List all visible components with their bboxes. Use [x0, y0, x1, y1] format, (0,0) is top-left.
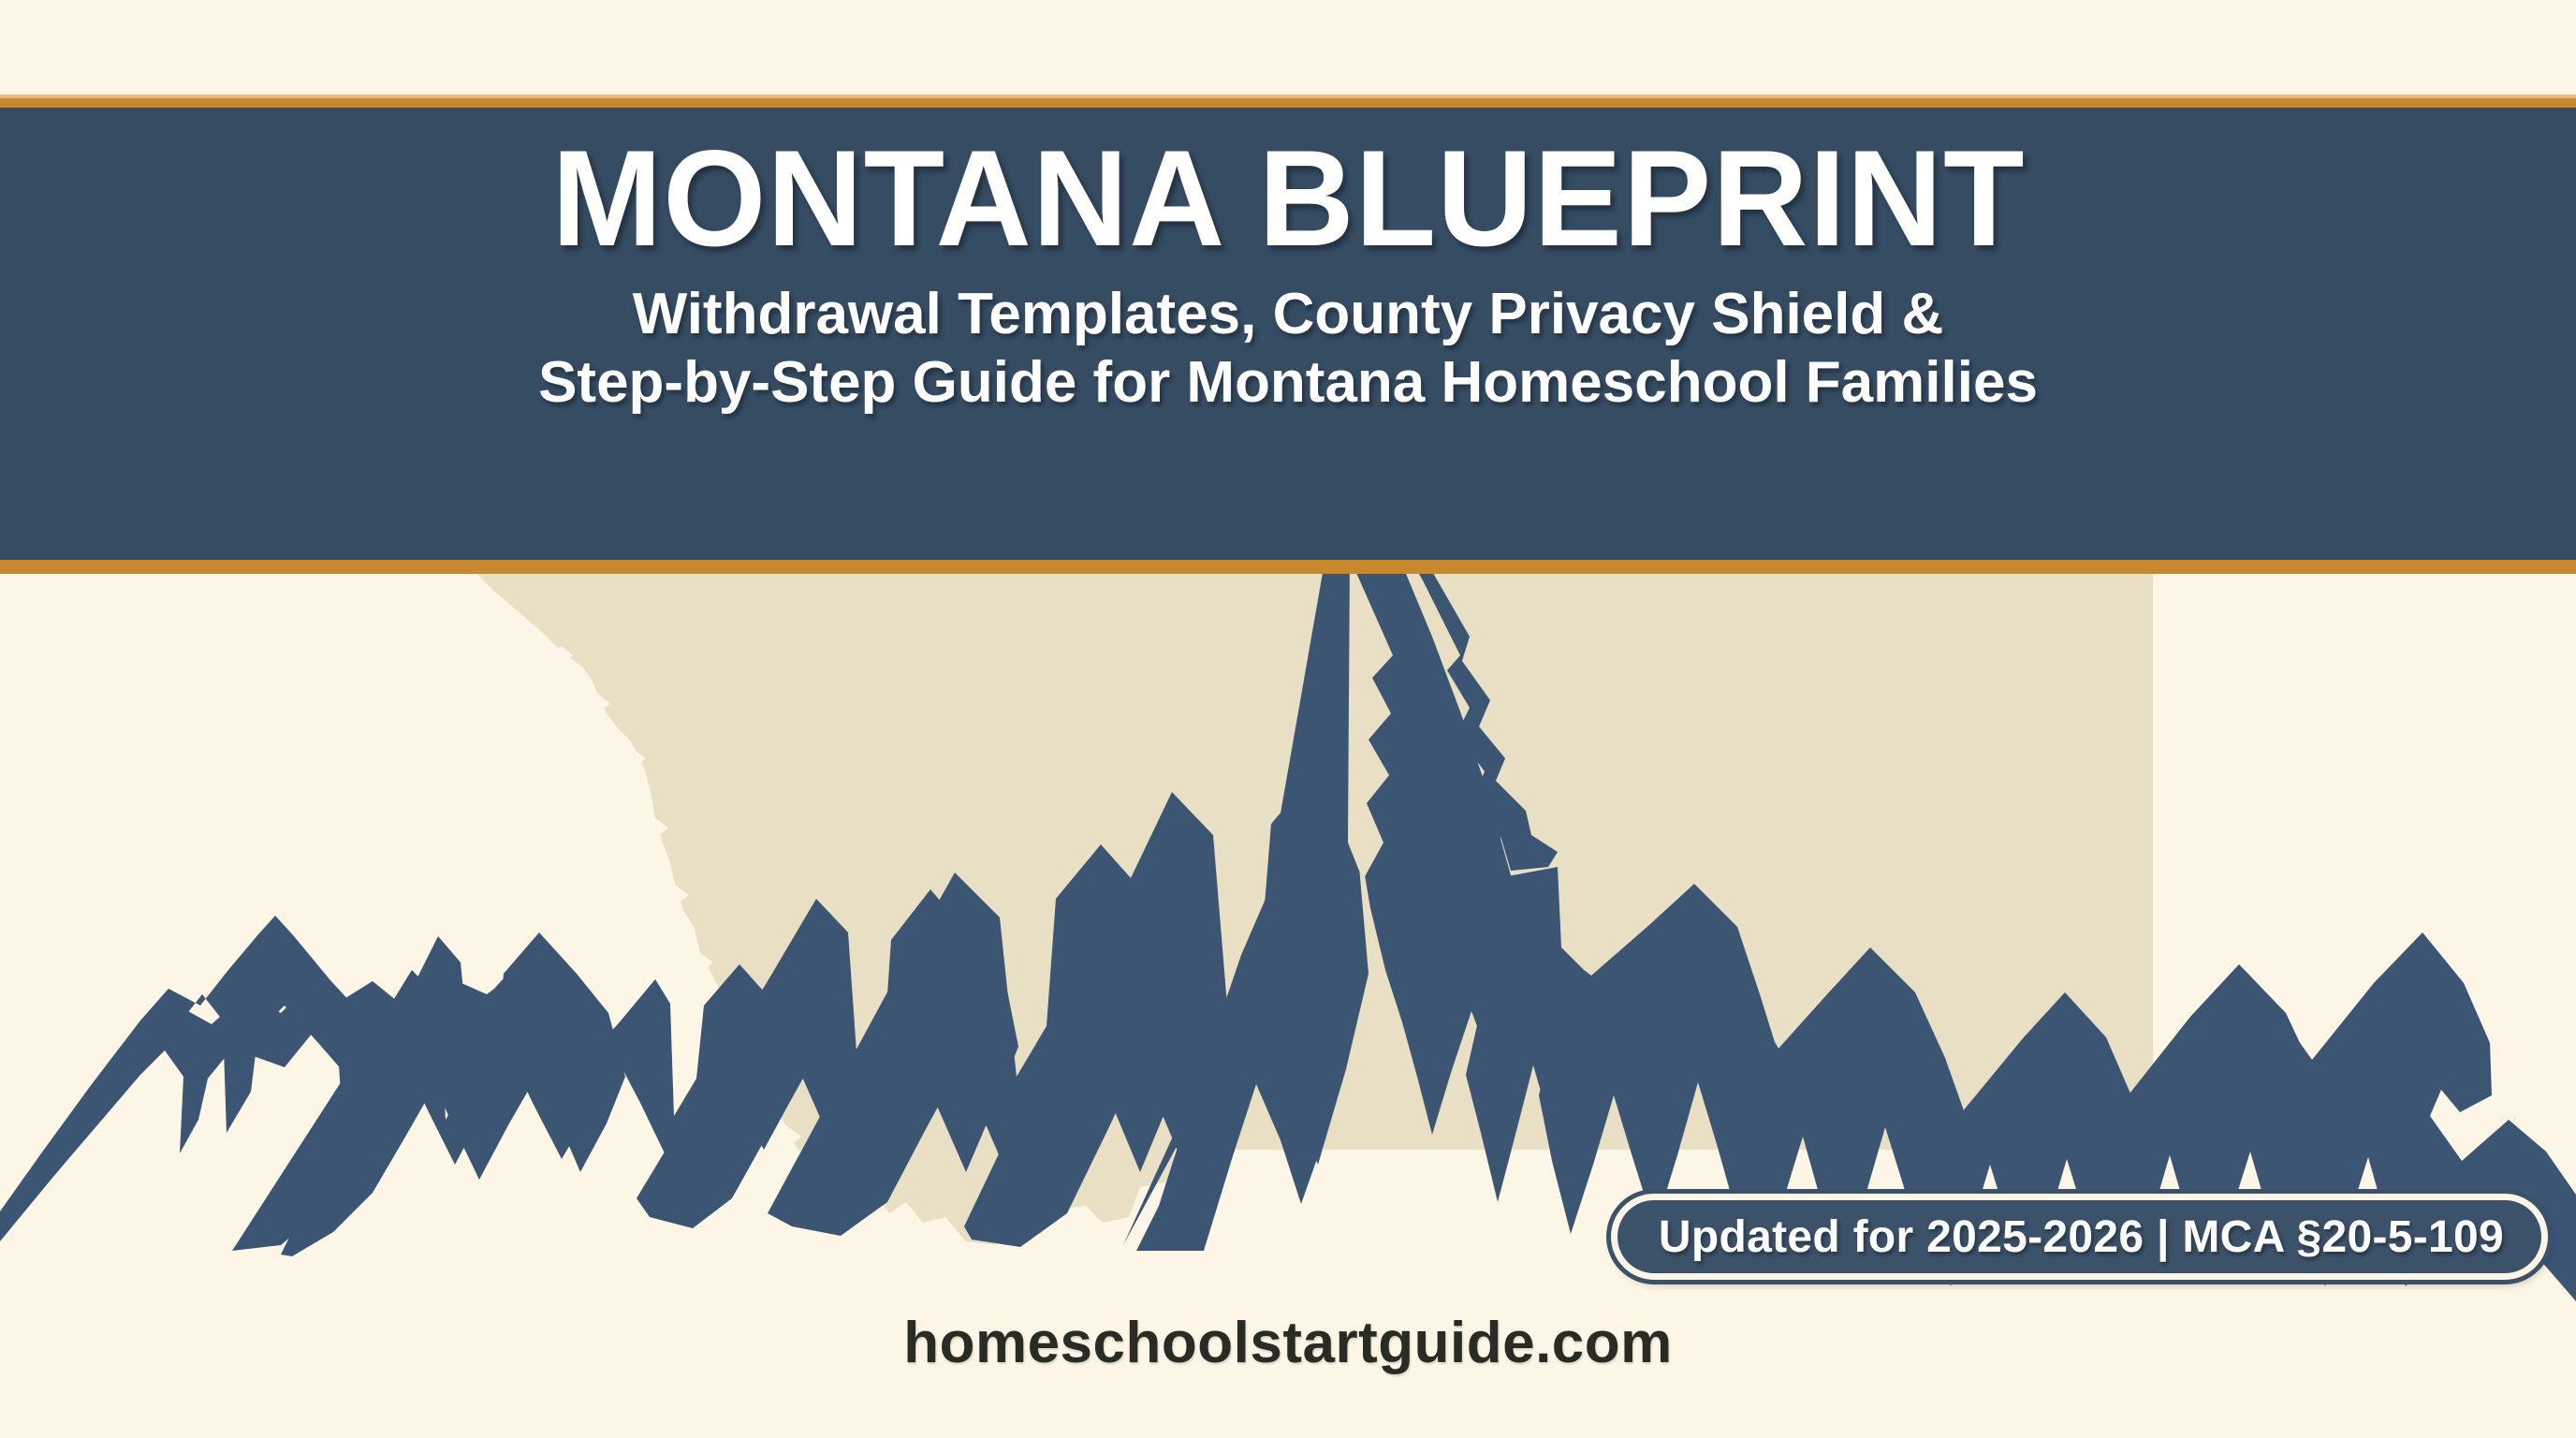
poster-subtitle: Withdrawal Templates, County Privacy Shi… [538, 280, 2038, 417]
subtitle-line-2: Step-by-Step Guide for Montana Homeschoo… [538, 348, 2038, 417]
badge-label: Updated for 2025-2026 | MCA §20-5-109 [1659, 1211, 2504, 1263]
status-badge: Updated for 2025-2026 | MCA §20-5-109 [1611, 1194, 2548, 1280]
site-url[interactable]: homeschoolstartguide.com [0, 1310, 2576, 1376]
header-band: MONTANA BLUEPRINT Withdrawal Templates, … [0, 95, 2576, 574]
page-title: MONTANA BLUEPRINT [551, 130, 2025, 267]
poster-canvas: MONTANA BLUEPRINT Withdrawal Templates, … [0, 0, 2576, 1438]
subtitle-line-1: Withdrawal Templates, County Privacy Shi… [538, 280, 2038, 348]
